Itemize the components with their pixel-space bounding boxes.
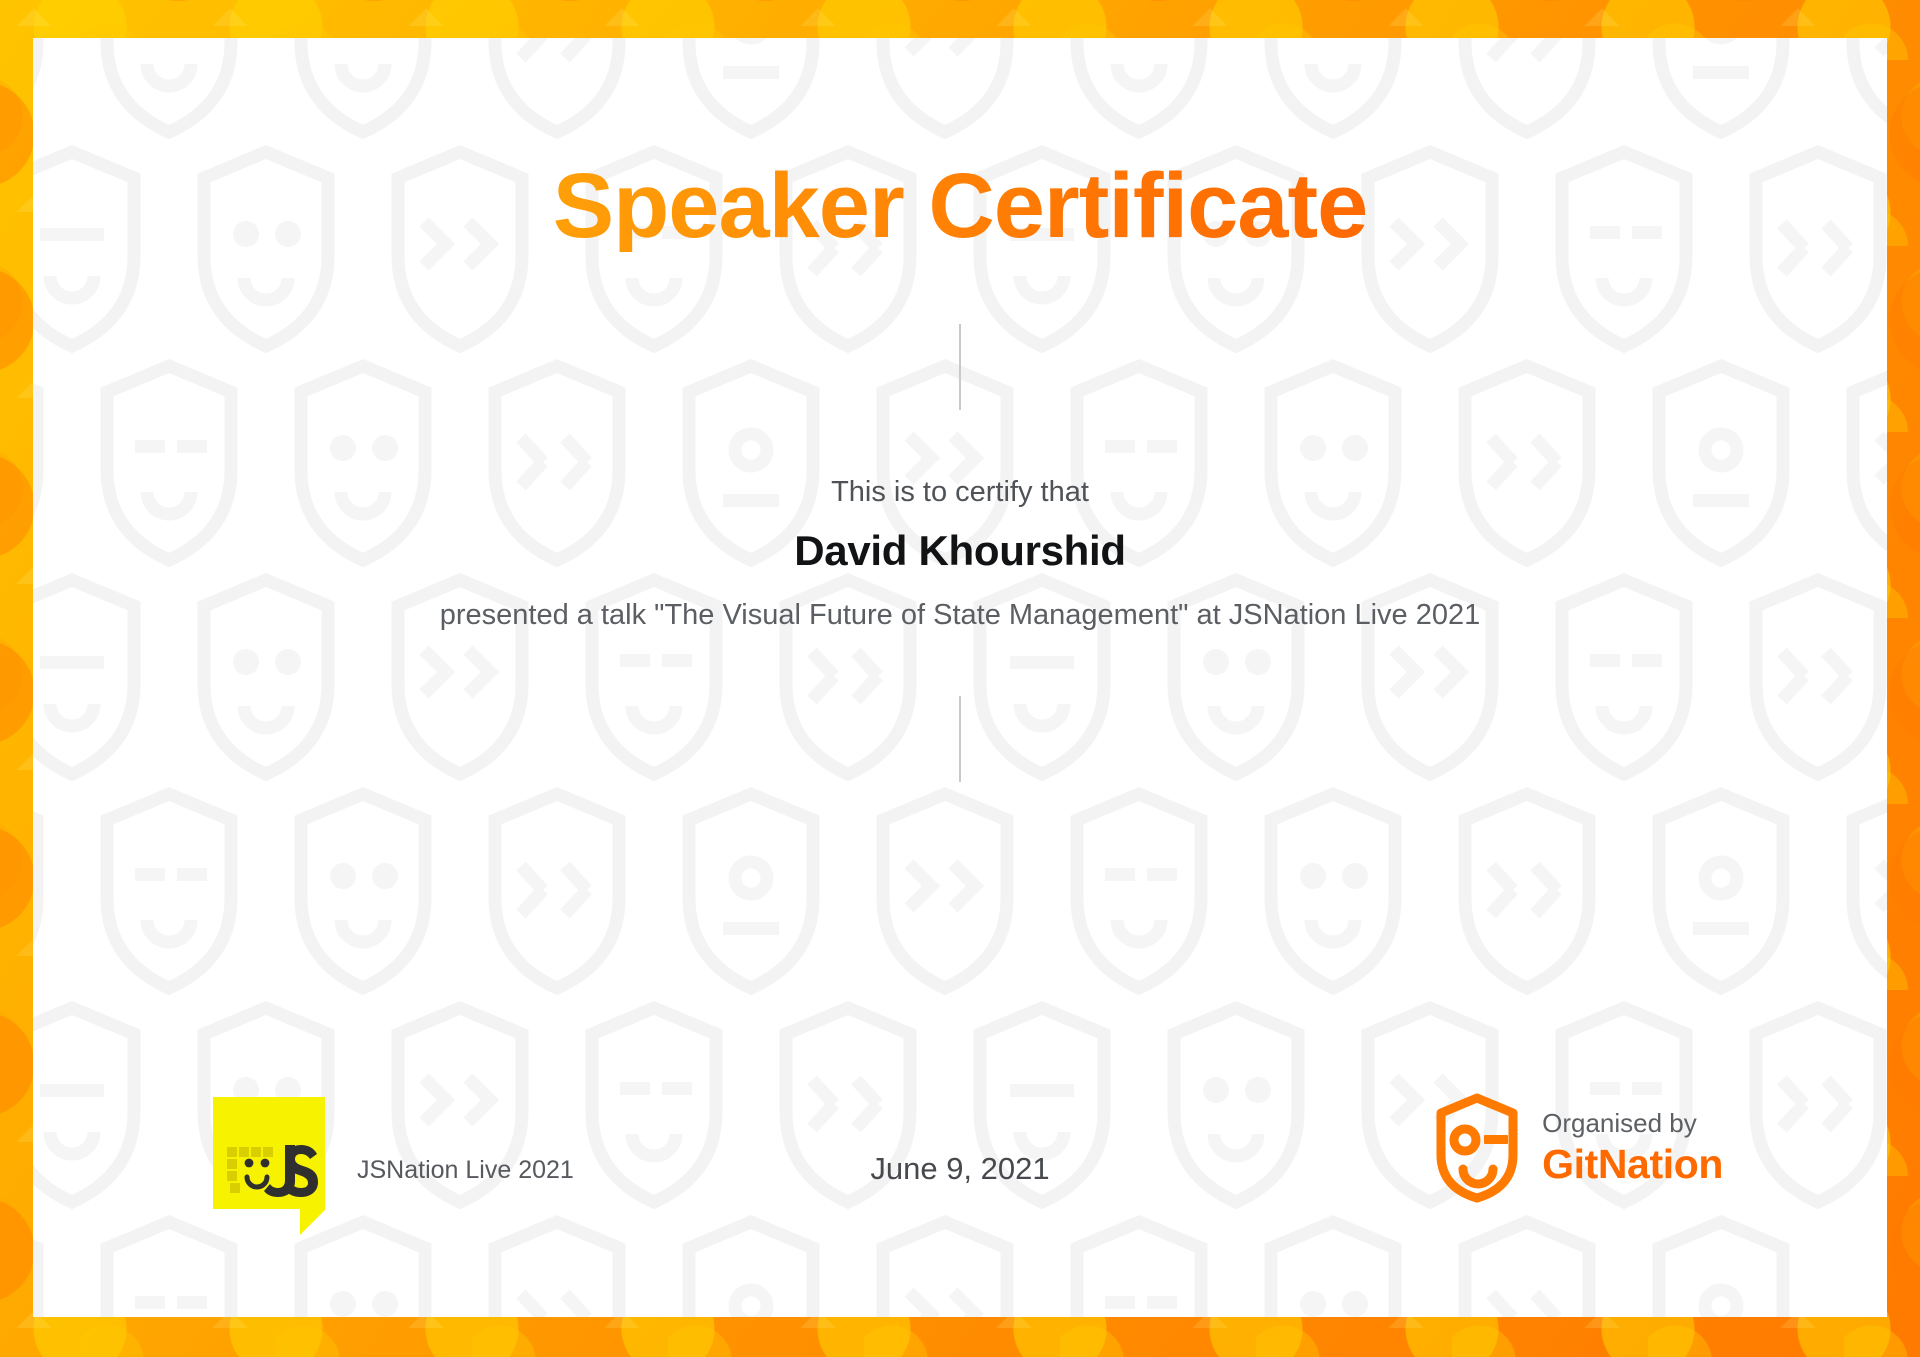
divider-top (959, 324, 961, 410)
certificate-date: June 9, 2021 (870, 1151, 1049, 1209)
page-title: Speaker Certificate (553, 160, 1368, 252)
gitnation-shield-icon (1434, 1093, 1520, 1203)
organised-by-label: Organised by (1542, 1110, 1723, 1137)
organiser-text-block: Organised by GitNation (1542, 1110, 1723, 1186)
talk-description: presented a talk "The Visual Future of S… (440, 599, 1481, 632)
organiser-name: GitNation (1542, 1143, 1723, 1186)
certificate-card: Speaker Certificate This is to certify t… (33, 38, 1887, 1317)
footer-organiser-block: Organised by GitNation (1434, 1093, 1723, 1203)
certify-line: This is to certify that (831, 476, 1089, 509)
recipient-name: David Khourshid (794, 527, 1126, 575)
divider-bottom (959, 696, 961, 782)
logo-speech-tail (300, 1209, 326, 1235)
speaker-certificate: Speaker Certificate This is to certify t… (0, 0, 1920, 1357)
certificate-footer: JSNation Live 2021 June 9, 2021 Organise… (33, 1079, 1887, 1209)
